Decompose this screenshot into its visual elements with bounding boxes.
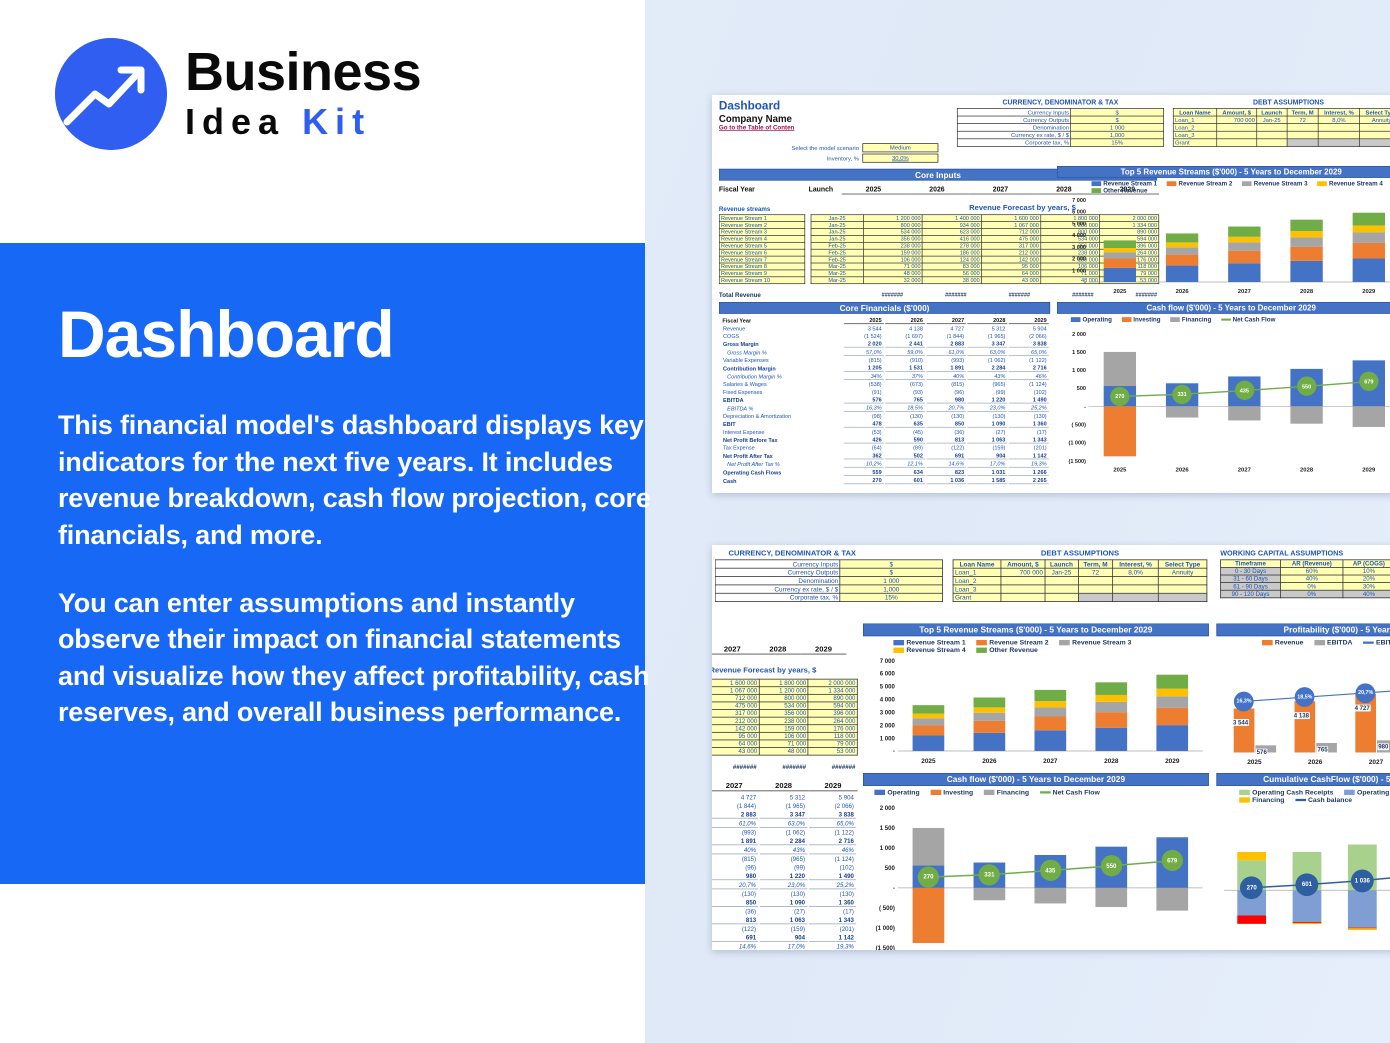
revenue-stream-name[interactable]: Revenue Stream 4 — [719, 235, 805, 242]
financial-row-value: 18,5% — [885, 405, 925, 412]
legend-label: Revenue Stream 1 — [1103, 180, 1157, 187]
financial-row-value: 270 — [844, 477, 884, 484]
revenue-launch-cell[interactable]: Mar-25 — [811, 270, 863, 277]
chart-top5-revenue[interactable]: Top 5 Revenue Streams ($'000) - 5 Years … — [1057, 166, 1390, 297]
revenue-value-cell[interactable]: 38 000 — [922, 277, 981, 284]
legend-label: Other Revenue — [1103, 187, 1147, 194]
debt-cell[interactable] — [1001, 577, 1045, 585]
total-revenue-value: ####### — [842, 292, 905, 298]
chart-legend-top5-bottom: Revenue Stream 1Revenue Stream 2Revenue … — [863, 638, 1209, 653]
financial-row-value: (36) — [926, 429, 966, 435]
table-row: Currency ex rate, $ / $1,000 — [715, 585, 942, 593]
financial-row-value: (993) — [926, 357, 966, 363]
revenue-value-cell[interactable]: 53 000 — [808, 748, 857, 756]
revenue-value-cell[interactable]: 142 000 — [981, 256, 1040, 263]
revenue-stream-name[interactable]: Revenue Stream 2 — [719, 222, 805, 229]
legend-label: Revenue Stream 4 — [906, 646, 965, 654]
debt-cell[interactable] — [1078, 585, 1113, 593]
table-row: EBITDA5767659801 2201 490 — [720, 397, 1048, 404]
table-row[interactable]: 712 000800 000890 000 — [712, 694, 857, 702]
revenue-value-cell[interactable]: 1 400 000 — [922, 215, 981, 222]
revenue-value-cell[interactable]: 534 000 — [863, 229, 922, 236]
financial-row-value: 43% — [968, 373, 1008, 380]
revenue-value-cell[interactable]: 118 000 — [808, 732, 857, 740]
scenario-label: Select the model scenario — [745, 145, 859, 152]
wc-cell[interactable]: 90 - 120 Days — [1221, 590, 1281, 598]
legend-swatch — [893, 640, 904, 645]
svg-text:(1 500): (1 500) — [876, 945, 895, 950]
table-row[interactable]: 142 000159 000176 000 — [712, 725, 857, 733]
debt-block-heading-bottom: DEBT ASSUMPTIONS — [953, 550, 1208, 558]
financial-row-value: (27) — [968, 429, 1008, 435]
legend-item: Revenue Stream 2 — [1167, 180, 1233, 187]
debt-cell[interactable]: Annuity — [1158, 568, 1207, 576]
table-row[interactable]: 317 000356 000396 000 — [712, 710, 857, 718]
revenue-value-cell[interactable]: 1 800 000 — [759, 679, 808, 687]
currency-row-value[interactable]: 1 000 — [1071, 124, 1164, 132]
financial-row-value: 765 — [885, 397, 925, 404]
svg-text:3 000: 3 000 — [1072, 245, 1086, 251]
revenue-value-cell[interactable]: 356 000 — [863, 235, 922, 242]
svg-text:-: - — [893, 885, 895, 892]
table-row[interactable]: Loan_1700 000Jan-25728,0%Annuity — [953, 568, 1207, 576]
debt-cell[interactable] — [1158, 577, 1207, 585]
table-row[interactable]: Loan_3 — [1173, 131, 1390, 139]
debt-cell[interactable] — [1158, 593, 1207, 601]
launch-column-header: Launch — [809, 186, 834, 194]
table-row[interactable]: 90 - 120 Days0%40% — [1221, 590, 1390, 598]
brand-name-secondary: Idea — [185, 101, 285, 142]
revenue-value-cell[interactable]: 142 000 — [712, 725, 759, 733]
revenue-value-cell[interactable]: 1 600 000 — [712, 679, 759, 687]
chart-cashflow-top[interactable]: Cash flow ($'000) - 5 Years to December … — [1057, 302, 1390, 478]
financial-row-value: (1 122) — [809, 829, 856, 836]
wc-cell[interactable]: 60% — [1280, 567, 1343, 575]
revenue-value-cell[interactable]: 48 000 — [759, 748, 808, 756]
brand-name-accent: Kit — [302, 101, 371, 142]
revenue-value-cell[interactable]: 475 000 — [981, 235, 1040, 242]
debt-cell[interactable] — [1158, 585, 1207, 593]
revenue-value-cell[interactable]: 416 000 — [922, 235, 981, 242]
table-row[interactable]: Grant — [1173, 139, 1390, 147]
revenue-value-cell[interactable]: 32 000 — [863, 277, 922, 284]
revenue-value-cell[interactable]: 475 000 — [712, 702, 759, 710]
inventory-input[interactable]: 30,0% — [862, 154, 938, 163]
table-row: 9801 2201 490 — [712, 873, 856, 881]
working-capital-table-bottom[interactable]: TimeframeAR (Revenue)AP (COGS)0 - 30 Day… — [1220, 559, 1390, 598]
debt-cell[interactable] — [1001, 585, 1045, 593]
toc-link[interactable]: Go to the Table of Conten — [719, 124, 794, 131]
svg-text:1 000: 1 000 — [880, 735, 896, 742]
table-row[interactable]: Loan_2 — [1173, 124, 1390, 132]
financial-row-value: 1 090 — [760, 899, 807, 907]
financial-row-label: Contribution Margin % — [720, 373, 842, 380]
debt-cell[interactable]: Loan_3 — [1173, 131, 1217, 139]
financial-row-value: (1 524) — [844, 333, 884, 339]
debt-cell[interactable]: Loan_2 — [953, 577, 1001, 585]
wc-cell[interactable]: 20% — [1343, 575, 1390, 583]
chart-cumulative-bottom[interactable]: Cumulative CashFlow ($'000) - 5 Years to… — [1216, 773, 1390, 950]
financial-row-value: 17,0% — [968, 461, 1008, 468]
debt-column-header: Amount, $ — [1217, 108, 1257, 116]
financial-row-value: (45) — [885, 429, 925, 435]
table-row: (1 844)(1 965)(2 066) — [712, 803, 856, 810]
debt-cell[interactable] — [1360, 124, 1390, 132]
debt-table-bottom[interactable]: Loan NameAmount, $LaunchTerm, MInterest,… — [953, 559, 1208, 602]
financial-row-value: (965) — [760, 856, 807, 863]
table-row[interactable]: Grant — [953, 593, 1207, 601]
financial-row-value: 1 220 — [968, 397, 1008, 404]
debt-table[interactable]: Loan NameAmount, $LaunchTerm, MInterest,… — [1173, 108, 1390, 147]
table-row[interactable]: Loan_2 — [953, 577, 1207, 585]
financial-row-value: 576 — [844, 397, 884, 404]
table-row: Salaries & Wages(538)(673)(815)(965)(1 1… — [720, 381, 1048, 387]
table-row: 1 8912 2842 716 — [712, 838, 856, 846]
table-row[interactable]: 43 00048 00053 000 — [712, 748, 857, 756]
debt-cell[interactable]: 8,0% — [1113, 568, 1158, 576]
table-row: Variable Expenses(815)(910)(993)(1 062)(… — [720, 357, 1048, 363]
table-row[interactable]: Revenue Stream 3 — [719, 229, 805, 236]
revenue-value-cell[interactable]: 43 000 — [712, 748, 759, 756]
debt-cell[interactable] — [1045, 593, 1078, 601]
debt-cell[interactable] — [1318, 131, 1359, 139]
revenue-value-cell[interactable]: 278 000 — [922, 242, 981, 249]
debt-cell[interactable] — [1078, 593, 1113, 601]
debt-cell[interactable] — [1078, 577, 1113, 585]
wc-cell[interactable]: 40% — [1280, 575, 1343, 583]
revenue-value-cell[interactable]: 212 000 — [712, 717, 759, 725]
revenue-launch-cell[interactable]: Mar-25 — [811, 263, 863, 270]
debt-cell[interactable]: Annuity — [1360, 116, 1390, 124]
dashboard-screenshot-bottom[interactable]: CURRENCY, DENOMINATOR & TAX Currency Inp… — [712, 545, 1390, 950]
revenue-value-cell[interactable]: 2 000 000 — [808, 679, 857, 687]
total-revenue-value: ####### — [905, 292, 968, 298]
revenue-stream-name[interactable]: Revenue Stream 6 — [719, 249, 805, 256]
wc-block-heading-bottom: WORKING CAPITAL ASSUMPTIONS — [1220, 550, 1390, 558]
currency-row-value[interactable]: $ — [1071, 116, 1164, 124]
revenue-value-cell[interactable]: 159 000 — [759, 725, 808, 733]
table-row: Currency Inputs$ — [715, 560, 942, 568]
debt-cell[interactable] — [1045, 585, 1078, 593]
data-bubble-label: 331 — [1172, 385, 1191, 404]
debt-cell[interactable]: Grant — [1173, 139, 1217, 147]
scenario-select[interactable]: Medium — [862, 143, 938, 152]
revenue-value-cell[interactable]: 124 000 — [922, 256, 981, 263]
revenue-launch-cell[interactable]: Feb-25 — [811, 242, 863, 249]
currency-row-value[interactable]: $ — [840, 568, 942, 576]
revenue-value-cell[interactable]: 712 000 — [712, 694, 759, 702]
table-row[interactable]: 61 - 90 Days0%30% — [1221, 583, 1390, 591]
financial-row-value: (1 062) — [760, 829, 807, 836]
table-row[interactable]: Revenue Stream 8 — [719, 263, 805, 270]
debt-cell[interactable]: 72 — [1287, 116, 1319, 124]
chart-cashflow-bottom[interactable]: Cash flow ($'000) - 5 Years to December … — [863, 773, 1209, 950]
wc-cell[interactable]: 0% — [1280, 583, 1343, 591]
brand-logo: Business Idea Kit — [55, 38, 421, 150]
legend-label: Financing — [1182, 316, 1211, 323]
revenue-value-cell[interactable]: 800 000 — [759, 694, 808, 702]
currency-row-value[interactable]: 1,000 — [1071, 131, 1164, 139]
debt-cell[interactable]: Loan_3 — [953, 585, 1001, 593]
debt-cell[interactable] — [1113, 577, 1158, 585]
debt-cell[interactable] — [1257, 124, 1287, 132]
table-row: (122)(159)(201) — [712, 926, 856, 933]
data-bubble-label: 435 — [1040, 860, 1061, 881]
financial-row-value: 34% — [844, 373, 884, 380]
debt-cell[interactable] — [1360, 131, 1390, 139]
revenue-value-cell[interactable]: 623 000 — [922, 229, 981, 236]
table-row[interactable]: Loan_1700 000Jan-25728,0%Annuity — [1173, 116, 1390, 124]
table-row[interactable]: Revenue Stream 1 — [719, 215, 805, 222]
wc-cell[interactable]: 30% — [1343, 583, 1390, 591]
revenue-value-cell[interactable]: 317 000 — [981, 242, 1040, 249]
financial-row-value: 691 — [712, 934, 758, 942]
revenue-value-cell[interactable]: 176 000 — [808, 725, 857, 733]
table-row[interactable]: Revenue Stream 9 — [719, 270, 805, 277]
revenue-stream-name[interactable]: Revenue Stream 5 — [719, 242, 805, 249]
financial-row-value: (122) — [712, 926, 758, 933]
revenue-launch-cell[interactable]: Jan-25 — [811, 215, 863, 222]
table-row[interactable]: 1 600 0001 800 0002 000 000 — [712, 679, 857, 687]
financial-row-value: (96) — [926, 389, 966, 395]
revenue-value-cell[interactable]: 56 000 — [922, 270, 981, 277]
table-row[interactable]: 212 000238 000264 000 — [712, 717, 857, 725]
currency-table[interactable]: Currency Inputs$Currency Outputs$Denomin… — [957, 108, 1164, 147]
table-row[interactable]: Revenue Stream 10 — [719, 277, 805, 284]
currency-row-label: Corporate tax, % — [715, 593, 840, 601]
legend-item: Operating Cash Receipts — [1239, 788, 1333, 796]
core-financials-table[interactable]: Fiscal Year20252026202720282029Revenue3 … — [719, 316, 1050, 486]
legend-label: Revenue Stream 1 — [906, 638, 965, 646]
revenue-value-cell[interactable]: 396 000 — [808, 710, 857, 718]
financial-row-value: 904 — [760, 934, 807, 942]
revenue-launch-cell[interactable]: Mar-25 — [811, 277, 863, 284]
revenue-value-cell[interactable]: 95 000 — [981, 263, 1040, 270]
wc-cell[interactable]: 31 - 60 Days — [1221, 575, 1281, 583]
table-row[interactable]: 475 000534 000594 000 — [712, 702, 857, 710]
currency-row-value[interactable]: $ — [1071, 108, 1164, 116]
currency-row-value[interactable]: 15% — [1071, 139, 1164, 147]
revenue-value-cell[interactable]: 934 000 — [922, 222, 981, 229]
dashboard-screenshot-top[interactable]: Dashboard Company Name Go to the Table o… — [712, 95, 1390, 493]
debt-cell[interactable] — [1217, 139, 1257, 147]
revenue-value-cell[interactable]: 106 000 — [759, 732, 808, 740]
revenue-value-cell[interactable]: 43 000 — [981, 277, 1040, 284]
table-row[interactable]: Revenue Stream 5 — [719, 242, 805, 249]
revenue-value-cell[interactable]: 264 000 — [808, 717, 857, 725]
debt-cell[interactable] — [1045, 577, 1078, 585]
wc-cell[interactable]: 10% — [1343, 567, 1390, 575]
table-row[interactable]: 1 067 0001 200 0001 334 000 — [712, 687, 857, 695]
revenue-value-cell[interactable]: 106 000 — [863, 256, 922, 263]
debt-cell[interactable] — [1318, 139, 1359, 147]
table-row[interactable]: 0 - 30 Days60%10% — [1221, 567, 1390, 575]
debt-cell[interactable] — [1257, 131, 1287, 139]
chart-legend-cashflow-bottom: OperatingInvestingFinancingNet Cash Flow — [863, 788, 1209, 796]
debt-cell[interactable]: 700 000 — [1217, 116, 1257, 124]
debt-cell[interactable] — [1113, 585, 1158, 593]
revenue-value-cell[interactable]: 71 000 — [863, 263, 922, 270]
chart-title-top5-bottom: Top 5 Revenue Streams ($'000) - 5 Years … — [863, 623, 1209, 636]
revenue-stream-name[interactable]: Revenue Stream 3 — [719, 229, 805, 236]
debt-cell[interactable]: 72 — [1078, 568, 1113, 576]
financial-row-value: 2 883 — [712, 811, 758, 819]
revenue-value-cell[interactable]: 1 200 000 — [759, 687, 808, 695]
revenue-value-cell[interactable]: 238 000 — [863, 242, 922, 249]
revenue-value-cell[interactable]: 79 000 — [808, 740, 857, 748]
legend-swatch — [1317, 181, 1327, 186]
table-row: Corporate tax, %15% — [957, 139, 1163, 147]
core-financials-table-bottom[interactable]: 4 7275 3125 904(1 844)(1 965)(2 066)2 88… — [712, 793, 858, 950]
currency-table-bottom[interactable]: Currency Inputs$Currency Outputs$Denomin… — [715, 559, 943, 602]
legend-swatch — [1122, 317, 1132, 322]
legend-item: Net Cash Flow — [1040, 788, 1100, 796]
table-row: Net Profit After Tax3625026919041 142 — [720, 452, 1048, 459]
revenue-value-cell[interactable]: 1 200 000 — [863, 215, 922, 222]
financial-row-label: Contribution Margin — [720, 365, 842, 372]
revenue-stream-name[interactable]: Revenue Stream 1 — [719, 215, 805, 222]
financial-row-value: 850 — [926, 421, 966, 428]
legend-label: Investing — [943, 788, 973, 796]
revenue-value-cell[interactable]: 317 000 — [712, 710, 759, 718]
table-row[interactable]: Revenue Stream 4 — [719, 235, 805, 242]
currency-row-value[interactable]: 1 000 — [840, 577, 942, 585]
debt-cell[interactable] — [1257, 139, 1287, 147]
revenue-value-cell[interactable]: 890 000 — [808, 694, 857, 702]
revenue-forecast-table-bottom[interactable]: 1 600 0001 800 0002 000 0001 067 0001 20… — [712, 679, 858, 756]
table-row: 61,0%63,0%65,0% — [712, 820, 856, 828]
table-row[interactable]: 64 00071 00079 000 — [712, 740, 857, 748]
financial-row-value: 980 — [712, 873, 758, 881]
revenue-value-cell[interactable]: 64 000 — [981, 270, 1040, 277]
financial-row-label: Net Profit Before Tax — [720, 437, 842, 444]
chart-title-profitability-bottom: Profitability ($'000) - 5 Years to Decem… — [1216, 623, 1390, 636]
financial-row-value: (1 124) — [1009, 381, 1049, 387]
revenue-stream-name[interactable]: Revenue Stream 8 — [719, 263, 805, 270]
revenue-value-cell[interactable]: 1 067 000 — [981, 222, 1040, 229]
year-header: 2025 — [842, 186, 905, 194]
svg-text:2026: 2026 — [1176, 289, 1190, 295]
chart-profitability-bottom[interactable]: Profitability ($'000) - 5 Years to Decem… — [1216, 623, 1390, 767]
data-bubble-label: 270 — [918, 866, 939, 887]
debt-cell[interactable] — [1001, 593, 1045, 601]
legend-item: Other Revenue — [1092, 187, 1148, 194]
svg-text:(1 000): (1 000) — [876, 925, 895, 932]
table-header-row: Fiscal Year20252026202720282029 — [720, 317, 1048, 324]
debt-cell[interactable] — [1318, 124, 1359, 132]
financial-row-value: 43% — [760, 847, 807, 855]
wc-cell[interactable]: 0 - 30 Days — [1221, 567, 1281, 575]
revenue-value-cell[interactable]: 48 000 — [863, 270, 922, 277]
table-row[interactable]: Revenue Stream 2 — [719, 222, 805, 229]
debt-cell[interactable]: 700 000 — [1001, 568, 1045, 576]
revenue-value-cell[interactable]: 95 000 — [712, 732, 759, 740]
table-row[interactable]: 95 000106 000118 000 — [712, 732, 857, 740]
table-row[interactable]: Loan_3 — [953, 585, 1207, 593]
revenue-value-cell[interactable]: 238 000 — [759, 717, 808, 725]
svg-text:5 000: 5 000 — [1072, 221, 1086, 227]
revenue-value-cell[interactable]: 712 000 — [981, 229, 1040, 236]
legend-swatch — [1092, 188, 1102, 193]
revenue-value-cell[interactable]: 1 334 000 — [808, 687, 857, 695]
revenue-value-cell[interactable]: 800 000 — [863, 222, 922, 229]
currency-row-label: Currency Outputs — [715, 568, 840, 576]
revenue-value-cell[interactable]: 356 000 — [759, 710, 808, 718]
financial-row-value: 1 090 — [968, 421, 1008, 428]
debt-cell[interactable] — [1287, 139, 1319, 147]
revenue-value-cell[interactable]: 159 000 — [863, 249, 922, 256]
debt-cell[interactable]: Loan_2 — [1173, 124, 1217, 132]
debt-cell[interactable] — [1287, 131, 1319, 139]
year-header: 2029 — [1009, 317, 1049, 324]
revenue-stream-name[interactable]: Revenue Stream 9 — [719, 270, 805, 277]
revenue-launch-cell[interactable]: Jan-25 — [811, 235, 863, 242]
revenue-value-cell[interactable]: 71 000 — [759, 740, 808, 748]
debt-cell[interactable] — [1217, 124, 1257, 132]
debt-cell[interactable]: Loan_1 — [1173, 116, 1217, 124]
wc-cell[interactable]: 61 - 90 Days — [1221, 583, 1281, 591]
financial-row-value: (201) — [1009, 445, 1049, 451]
revenue-launch-cell[interactable]: Jan-25 — [811, 222, 863, 229]
chart-legend-profitability-bottom: RevenueEBITDAEBITDA % — [1216, 638, 1390, 646]
revenue-value-cell[interactable]: 1 067 000 — [712, 687, 759, 695]
revenue-value-cell[interactable]: 186 000 — [922, 249, 981, 256]
wc-cell[interactable]: 0% — [1280, 590, 1343, 598]
table-row[interactable]: 31 - 60 Days40%20% — [1221, 575, 1390, 583]
debt-cell[interactable]: 8,0% — [1318, 116, 1359, 124]
debt-cell[interactable] — [1360, 139, 1390, 147]
legend-label: Financing — [1252, 796, 1284, 804]
chart-legend-cumulative-bottom: Operating Cash ReceiptsOperating Cash Pa… — [1216, 788, 1390, 803]
revenue-value-cell[interactable]: 534 000 — [759, 702, 808, 710]
data-bubble-label: 550 — [1297, 377, 1316, 396]
legend-swatch — [1071, 317, 1081, 322]
table-row: 8501 0901 360 — [712, 899, 856, 907]
revenue-launch-cell[interactable]: Jan-25 — [811, 229, 863, 236]
revenue-stream-names-table[interactable]: Revenue Stream 1Revenue Stream 2Revenue … — [719, 214, 805, 284]
currency-row-value[interactable]: 15% — [840, 593, 942, 601]
year-header: 2025 — [844, 317, 884, 324]
debt-cell[interactable]: Jan-25 — [1045, 568, 1078, 576]
svg-text:6 000: 6 000 — [1072, 210, 1086, 216]
financial-row-value: (99) — [760, 864, 807, 871]
revenue-value-cell[interactable]: 83 000 — [922, 263, 981, 270]
debt-cell[interactable] — [1113, 593, 1158, 601]
revenue-stream-name[interactable]: Revenue Stream 10 — [719, 277, 805, 284]
debt-cell[interactable] — [1287, 124, 1319, 132]
table-row[interactable]: Revenue Stream 6 — [719, 249, 805, 256]
revenue-value-cell[interactable]: 1 600 000 — [981, 215, 1040, 222]
wc-cell[interactable]: 40% — [1343, 590, 1390, 598]
revenue-value-cell[interactable]: 64 000 — [712, 740, 759, 748]
currency-row-value[interactable]: $ — [840, 560, 942, 568]
revenue-value-cell[interactable]: 594 000 — [808, 702, 857, 710]
revenue-stream-name[interactable]: Revenue Stream 7 — [719, 256, 805, 263]
table-row[interactable]: Revenue Stream 7 — [719, 256, 805, 263]
chart-top5-revenue-bottom[interactable]: Top 5 Revenue Streams ($'000) - 5 Years … — [863, 623, 1209, 767]
chart-title-cashflow-bottom: Cash flow ($'000) - 5 Years to December … — [863, 773, 1209, 786]
table-row: 4 7275 3125 904 — [712, 794, 856, 801]
revenue-value-cell[interactable]: 212 000 — [981, 249, 1040, 256]
debt-cell[interactable]: Jan-25 — [1257, 116, 1287, 124]
debt-cell[interactable] — [1217, 131, 1257, 139]
revenue-launch-cell[interactable]: Feb-25 — [811, 249, 863, 256]
debt-cell[interactable]: Grant — [953, 593, 1001, 601]
debt-cell[interactable]: Loan_1 — [953, 568, 1001, 576]
currency-row-value[interactable]: 1,000 — [840, 585, 942, 593]
revenue-launch-cell[interactable]: Feb-25 — [811, 256, 863, 263]
svg-text:2027: 2027 — [1238, 468, 1251, 474]
